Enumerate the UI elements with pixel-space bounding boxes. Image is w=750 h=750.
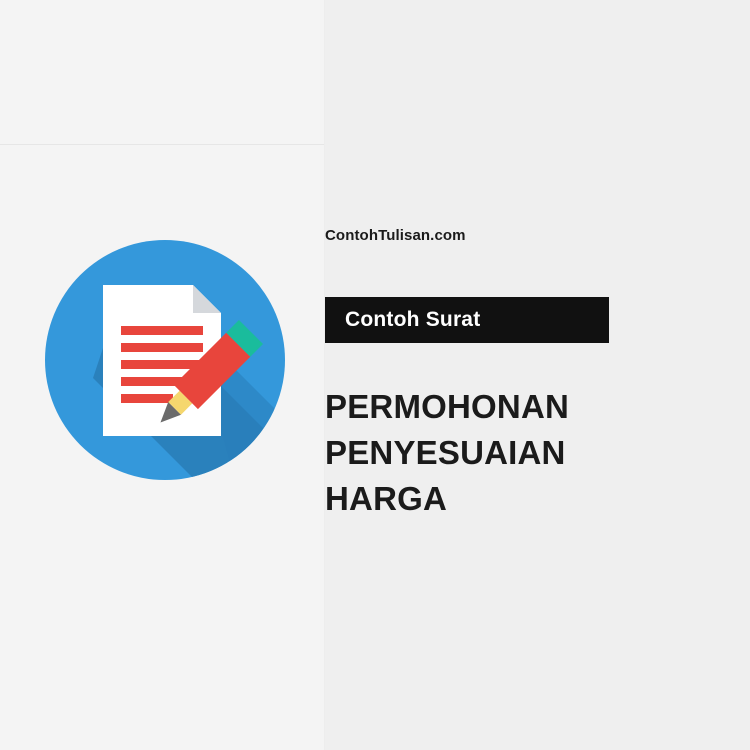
site-name-label: ContohTulisan.com <box>325 226 466 246</box>
category-banner[interactable]: Contoh Surat <box>325 297 609 343</box>
horizontal-divider <box>0 144 324 145</box>
icon-text-line <box>121 326 203 335</box>
icon-text-line <box>121 343 203 352</box>
icon-text-line <box>121 360 203 369</box>
article-title: PERMOHONAN PENYESUAIAN HARGA <box>325 384 655 522</box>
icon-text-line-short <box>121 394 173 403</box>
right-background-panel <box>324 0 750 750</box>
vertical-divider <box>324 0 325 750</box>
poster-canvas: ContohTulisan.com Contoh Surat PERMOHONA… <box>0 0 750 750</box>
category-banner-label: Contoh Surat <box>345 297 480 343</box>
document-with-pencil-icon <box>45 240 285 480</box>
